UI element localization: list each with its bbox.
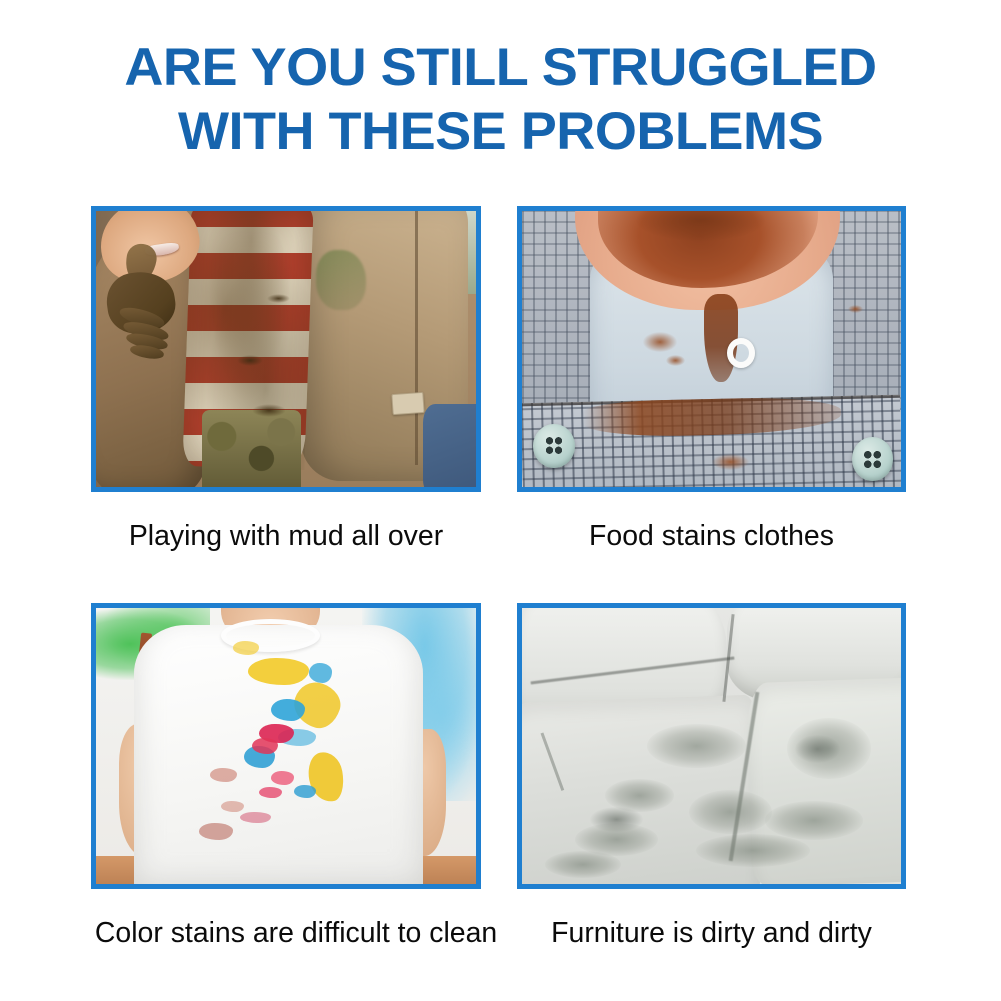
paint-splatter-pink-1 <box>210 768 237 782</box>
sofa-stain-dark-2 <box>795 735 840 763</box>
paint-splatter-pink-2 <box>199 823 233 840</box>
mud-jacket-seam <box>415 211 418 465</box>
problem-grid: Playing with mud all over <box>0 206 1001 1000</box>
problem-card-sofa: Furniture is dirty and dirty <box>517 603 906 950</box>
problem-row-2: Color stains are difficult to clean <box>0 603 1001 1000</box>
photo-frame-mud <box>91 206 481 492</box>
headline-line-1: ARE YOU STILL STRUGGLED <box>0 36 1001 100</box>
paint-splatter-red-2 <box>252 738 279 755</box>
caption-sofa: Furniture is dirty and dirty <box>521 916 902 950</box>
paint-splatter-yellow-4 <box>233 641 260 655</box>
sofa-stain-8 <box>545 851 621 879</box>
food-stained-baby-photo <box>522 211 901 487</box>
caption-paint: Color stains are difficult to clean <box>95 916 477 950</box>
problem-card-food: Food stains clothes <box>517 206 906 553</box>
mud-jeans <box>423 404 476 487</box>
headline-line-2: WITH THESE PROBLEMS <box>0 100 1001 164</box>
caption-mud: Playing with mud all over <box>95 519 477 553</box>
mud-splatter-1 <box>237 355 264 366</box>
mud-splatter-2 <box>267 294 290 303</box>
sofa-stain-dark-1 <box>590 807 643 832</box>
mud-jacket-graphic <box>316 250 365 311</box>
paint-splatter-red-3 <box>271 771 294 785</box>
muddy-kids-photo <box>96 211 476 487</box>
infographic-page: ARE YOU STILL STRUGGLED WITH THESE PROBL… <box>0 0 1001 1001</box>
sofa-stain-5 <box>765 801 864 840</box>
paint-stained-shirt-photo <box>96 608 476 884</box>
mud-splatter-3 <box>252 404 286 416</box>
food-stain-spot-2 <box>666 355 685 366</box>
sofa-stain-1 <box>647 724 746 768</box>
caption-food: Food stains clothes <box>521 519 902 553</box>
food-stain-spot-1 <box>643 332 677 351</box>
food-overall-button-left <box>533 424 575 468</box>
dirty-sofa-photo <box>522 608 901 884</box>
mud-jacket-tag <box>392 392 426 416</box>
mud-camo-pants <box>202 410 301 487</box>
problem-card-paint: Color stains are difficult to clean <box>91 603 481 950</box>
photo-frame-sofa <box>517 603 906 889</box>
food-stain-spot-3 <box>848 305 863 313</box>
paint-splatter-blue-3 <box>309 663 332 682</box>
problem-card-mud: Playing with mud all over <box>91 206 481 553</box>
photo-frame-paint <box>91 603 481 889</box>
page-headline: ARE YOU STILL STRUGGLED WITH THESE PROBL… <box>0 36 1001 164</box>
problem-row-1: Playing with mud all over <box>0 206 1001 603</box>
photo-frame-food <box>517 206 906 492</box>
